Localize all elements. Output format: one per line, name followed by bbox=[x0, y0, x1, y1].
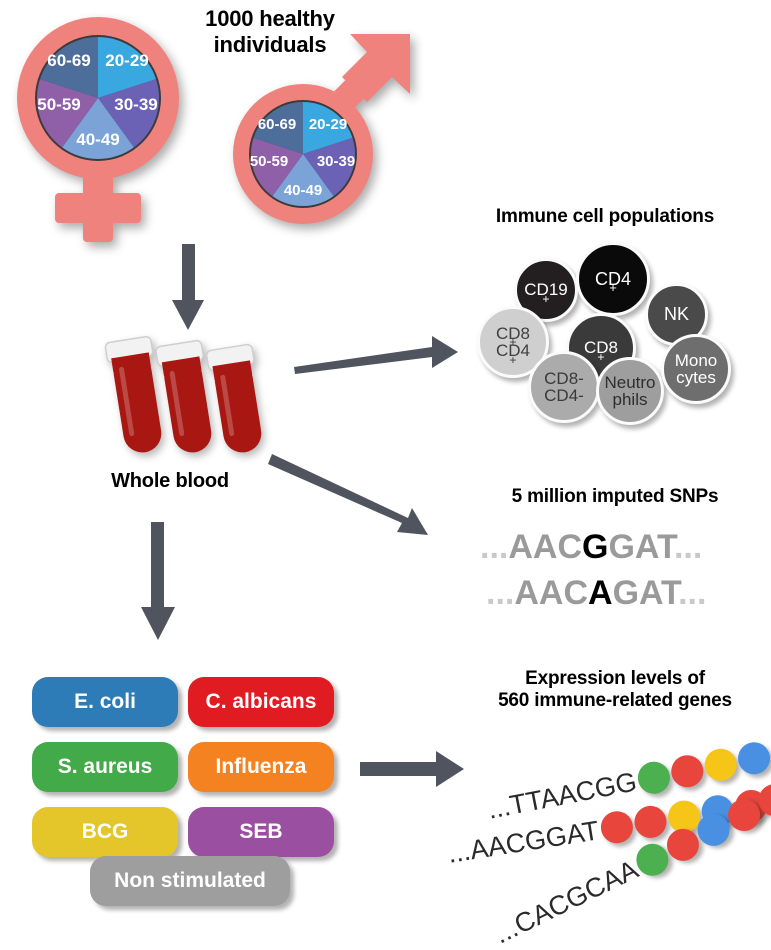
immune-cell-label: CD8+ bbox=[584, 339, 618, 357]
immune-cell-monocytes[interactable]: Monocytes bbox=[661, 334, 731, 404]
snp-pre: AAC bbox=[514, 574, 588, 612]
female-symbol: 20-29 30-39 40-49 50-59 60-69 bbox=[8, 10, 188, 250]
female-slice-label-40-49: 40-49 bbox=[76, 130, 119, 149]
section-title-snps: 5 million imputed SNPs bbox=[455, 486, 771, 508]
expression-bead bbox=[669, 753, 707, 791]
snp-pre: AAC bbox=[508, 528, 582, 566]
stimulus-button-seb[interactable]: SEB bbox=[188, 807, 334, 857]
expression-bead bbox=[735, 740, 771, 778]
expression-strand-sequence: ...CACGCAA bbox=[489, 854, 643, 950]
stimulus-button-c-albicans[interactable]: C. albicans bbox=[188, 677, 334, 727]
male-slice-label-30-39: 30-39 bbox=[317, 153, 355, 170]
snp-post: GAT bbox=[608, 528, 673, 566]
snp-prefix: ... bbox=[480, 528, 508, 566]
snp-sequence-block: ...AACGGAT......AACAGAT... bbox=[480, 528, 760, 618]
stimulus-label: E. coli bbox=[74, 690, 136, 714]
expression-bead bbox=[702, 746, 740, 784]
stimulus-label: BCG bbox=[82, 820, 129, 844]
stimulus-button-s-aureus[interactable]: S. aureus bbox=[32, 742, 178, 792]
expression-bead bbox=[632, 804, 669, 841]
immune-cell-cd4[interactable]: CD4+ bbox=[576, 242, 650, 316]
immune-cell-cd8-cd4[interactable]: CD8-CD4- bbox=[528, 351, 600, 423]
stimulus-label: Influenza bbox=[215, 755, 306, 779]
immune-cell-label: Monocytes bbox=[675, 352, 718, 387]
expression-title-line-1: Expression levels of bbox=[455, 668, 771, 690]
section-title-expression: Expression levels of 560 immune-related … bbox=[455, 668, 771, 713]
immune-cell-label: Neutrophils bbox=[604, 374, 655, 409]
male-slice-label-40-49: 40-49 bbox=[284, 182, 322, 199]
label-whole-blood: Whole blood bbox=[60, 470, 280, 494]
immune-cell-label: CD4+ bbox=[595, 270, 631, 289]
snp-prefix: ... bbox=[486, 574, 514, 612]
male-symbol: 20-29 30-39 40-49 50-59 60-69 bbox=[206, 32, 414, 232]
immune-cell-label: NK bbox=[664, 305, 689, 324]
male-slice-label-20-29: 20-29 bbox=[309, 116, 347, 133]
figure-canvas: 1000 healthy individuals 20-29 30-39 40-… bbox=[0, 0, 771, 922]
stimulus-button-influenza[interactable]: Influenza bbox=[188, 742, 334, 792]
immune-cell-label: CD8+CD4+ bbox=[496, 325, 530, 360]
stimulus-label: SEB bbox=[239, 820, 282, 844]
immune-cell-label: CD8-CD4- bbox=[544, 370, 584, 405]
stimulus-label: C. albicans bbox=[206, 690, 317, 714]
snp-suffix: ... bbox=[678, 574, 706, 612]
stimulus-button-bcg[interactable]: BCG bbox=[32, 807, 178, 857]
expression-strand-block: ...TTAACGG...AACGGAT...CACGCAA bbox=[440, 720, 771, 920]
stimulus-button-non-stimulated[interactable]: Non stimulated bbox=[90, 856, 290, 906]
snp-sequence-row: ...AACAGAT... bbox=[486, 574, 706, 613]
title-line-1: 1000 healthy bbox=[170, 6, 370, 32]
arrow-blood-to-immune-cells bbox=[292, 322, 462, 382]
immune-cell-label: CD19+ bbox=[524, 281, 567, 299]
snp-variant-base: A bbox=[588, 574, 613, 612]
immune-cell-neutrophils[interactable]: Neutrophils bbox=[596, 357, 664, 425]
female-slice-label-20-29: 20-29 bbox=[105, 51, 148, 70]
expression-title-line-2: 560 immune-related genes bbox=[455, 690, 771, 712]
arrow-individuals-to-blood bbox=[158, 244, 218, 334]
stimulus-label: S. aureus bbox=[58, 755, 153, 779]
expression-strand-sequence: ...AACGGAT bbox=[446, 815, 602, 869]
female-slice-label-30-39: 30-39 bbox=[114, 95, 157, 114]
expression-bead bbox=[635, 759, 673, 797]
female-slice-label-50-59: 50-59 bbox=[37, 95, 80, 114]
arrow-blood-to-snps bbox=[252, 432, 472, 542]
male-slice-label-50-59: 50-59 bbox=[250, 153, 288, 170]
arrow-blood-to-stimuli bbox=[130, 522, 200, 642]
section-title-immune-cells: Immune cell populations bbox=[440, 206, 770, 228]
snp-post: GAT bbox=[613, 574, 678, 612]
stimulus-label: Non stimulated bbox=[114, 869, 266, 893]
snp-sequence-row: ...AACGGAT... bbox=[480, 528, 702, 567]
snp-suffix: ... bbox=[674, 528, 702, 566]
female-slice-label-60-69: 60-69 bbox=[47, 51, 90, 70]
male-slice-label-60-69: 60-69 bbox=[258, 116, 296, 133]
snp-variant-base: G bbox=[582, 528, 608, 566]
expression-bead bbox=[598, 809, 635, 846]
stimulus-button-e-coli[interactable]: E. coli bbox=[32, 677, 178, 727]
